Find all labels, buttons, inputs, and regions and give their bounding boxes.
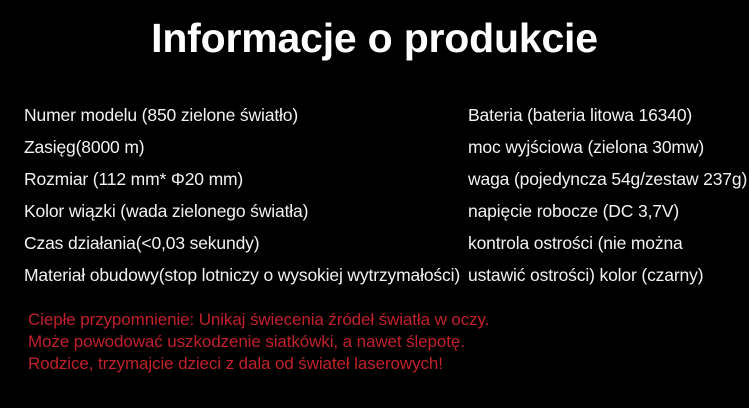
spec-column-right: Bateria (bateria litowa 16340) moc wyjśc… bbox=[468, 99, 747, 291]
spec-row: Numer modelu (850 zielone światło) bbox=[24, 99, 460, 131]
page-title: Informacje o produkcie bbox=[0, 14, 749, 62]
spec-column-left: Numer modelu (850 zielone światło) Zasię… bbox=[24, 99, 460, 291]
specifications-block: Numer modelu (850 zielone światło) Zasię… bbox=[0, 99, 749, 279]
spec-row: Zasięg(8000 m) bbox=[24, 131, 460, 163]
spec-row: waga (pojedyncza 54g/zestaw 237g) bbox=[468, 163, 747, 195]
warning-line: Rodzice, trzymajcie dzieci z dala od świ… bbox=[28, 353, 728, 375]
safety-warning-block: Ciepłe przypomnienie: Unikaj świecenia ź… bbox=[28, 309, 728, 375]
spec-row: kontrola ostrości (nie można bbox=[468, 227, 747, 259]
spec-row: napięcie robocze (DC 3,7V) bbox=[468, 195, 747, 227]
warning-line: Ciepłe przypomnienie: Unikaj świecenia ź… bbox=[28, 309, 728, 331]
spec-row: Bateria (bateria litowa 16340) bbox=[468, 99, 747, 131]
spec-row: ustawić ostrości) kolor (czarny) bbox=[468, 259, 747, 291]
spec-row: Czas działania(<0,03 sekundy) bbox=[24, 227, 460, 259]
spec-row: Kolor wiązki (wada zielonego światła) bbox=[24, 195, 460, 227]
spec-row: moc wyjściowa (zielona 30mw) bbox=[468, 131, 747, 163]
warning-line: Może powodować uszkodzenie siatkówki, a … bbox=[28, 331, 728, 353]
spec-row: Rozmiar (112 mm* Φ20 mm) bbox=[24, 163, 460, 195]
product-info-card: Informacje o produkcie Numer modelu (850… bbox=[0, 0, 749, 408]
spec-row: Materiał obudowy(stop lotniczy o wysokie… bbox=[24, 259, 460, 291]
